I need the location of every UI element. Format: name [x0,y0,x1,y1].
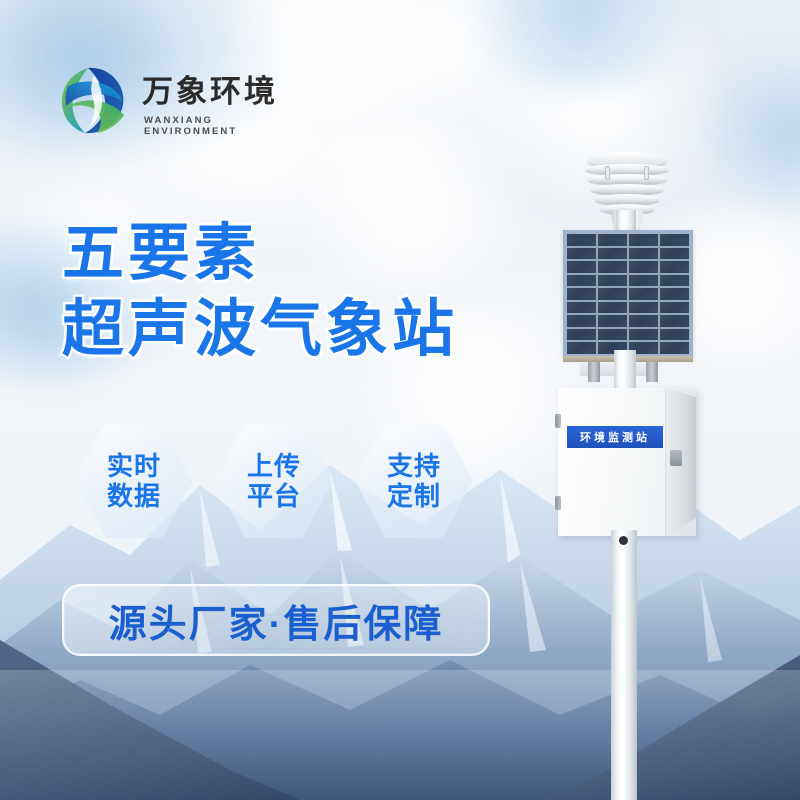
ultrasonic-weather-station: 环境监测站 [520,150,780,800]
solar-cell [660,234,689,246]
badge-upload-platform[interactable]: 上传 平台 [215,424,333,538]
solar-cell [629,315,658,327]
control-box: 环境监测站 [558,388,696,536]
badge-line-2: 定制 [387,481,441,511]
brand-name-cn: 万象环境 [142,76,278,107]
brand-name-en: WANXIANG ENVIRONMENT [144,115,288,137]
badge-realtime-data[interactable]: 实时 数据 [75,424,193,538]
solar-cell [598,302,627,314]
solar-cell [660,302,689,314]
poster-canvas: 环境监测站 [0,0,800,800]
solar-cell [598,275,627,287]
headline-block: 五要素 超声波气象站 [62,222,532,363]
solar-cell [660,315,689,327]
solar-cell [598,234,627,246]
solar-cell [629,261,658,273]
headline-line-2: 超声波气象站 [62,298,532,362]
solar-cell [660,261,689,273]
badge-line-2: 数据 [107,481,161,511]
solar-cell [660,342,689,354]
solar-cell-grid [567,234,689,354]
solar-cell [567,234,596,246]
sensor-probe-icon [644,166,649,180]
badge-line-1: 上传 [247,451,301,481]
brand-logo[interactable]: 万象环境 WANXIANG ENVIRONMENT [58,62,288,140]
solar-cell [567,248,596,260]
solar-cell [567,288,596,300]
solar-cell [629,288,658,300]
solar-cell [567,261,596,273]
pole-bolt-icon [619,536,628,545]
control-box-door: 环境监测站 [558,388,666,536]
solar-cell [660,329,689,341]
sensor-probe-icon [605,166,610,180]
solar-cell [629,248,658,260]
solar-cell [629,329,658,341]
solar-cell [660,248,689,260]
solar-mount-bracket [646,362,658,382]
mounting-pole-lower [611,530,637,800]
globe-swirl-logo-icon [58,64,132,136]
solar-cell [598,288,627,300]
badge-support-custom[interactable]: 支持 定制 [355,424,473,538]
solar-cell [598,315,627,327]
guarantee-banner[interactable]: 源头厂家·售后保障 [62,584,490,656]
solar-cell [567,342,596,354]
guarantee-banner-text: 源头厂家·售后保障 [109,593,444,648]
solar-cell [567,315,596,327]
solar-cell [567,302,596,314]
solar-cell [629,302,658,314]
latch-icon [670,450,682,466]
solar-cell [660,275,689,287]
solar-cell [567,275,596,287]
feature-badges: 实时 数据 上传 平台 支持 定制 [75,424,475,538]
solar-cell [598,248,627,260]
solar-mount-bracket [588,362,600,382]
solar-cell [629,275,658,287]
solar-cell [660,288,689,300]
badge-line-1: 实时 [107,451,161,481]
solar-cell [598,261,627,273]
control-box-label-text: 环境监测站 [580,429,650,445]
solar-cell [567,329,596,341]
solar-cell [629,234,658,246]
control-box-label: 环境监测站 [567,426,663,448]
hinge-icon [555,414,561,428]
headline-line-1: 五要素 [62,222,532,286]
badge-line-2: 平台 [247,481,301,511]
hinge-icon [555,496,561,510]
solar-panel [563,230,693,358]
badge-line-1: 支持 [387,451,441,481]
solar-cell [598,329,627,341]
